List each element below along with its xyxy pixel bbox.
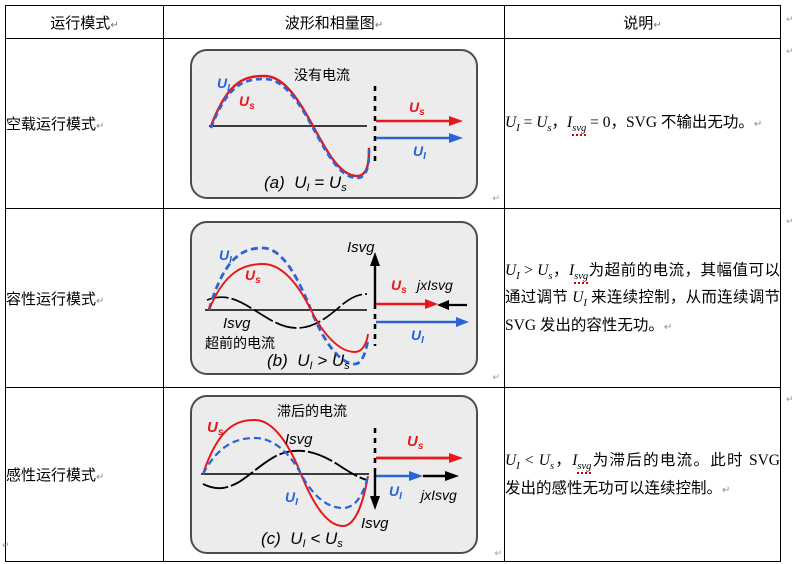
mode-label: 容性运行模式 — [6, 291, 96, 308]
figure-caption-a: (a) UI = Us — [264, 173, 347, 194]
waveform-note-leading-current: 超前的电流 — [205, 335, 275, 351]
pilcrow-mark-margin: ↵ — [786, 394, 794, 405]
header-cell-mode: 运行模式↵ — [6, 6, 164, 39]
waveform-cell-inductive: Us UI Isvg 滞后的电流 Us UI — [164, 388, 505, 562]
waveform-label-isvg: Isvg — [285, 431, 313, 448]
header-label-description: 说明 — [623, 15, 653, 32]
pilcrow-mark: ↵ — [96, 121, 104, 132]
desc-operator: > — [520, 262, 537, 279]
phasor-label-jxisvg: jxIsvg — [419, 487, 457, 503]
desc-term-ui: UI — [505, 114, 520, 131]
pilcrow-mark: ↵ — [494, 548, 502, 559]
desc-term-ui: UI — [505, 452, 520, 469]
mode-cell-no-load: 空载运行模式↵ — [6, 39, 164, 209]
pilcrow-mark: ↵ — [754, 119, 762, 130]
figure-caption-c: (c) UI < Us — [261, 529, 343, 550]
pilcrow-mark: ↵ — [492, 372, 500, 383]
pilcrow-mark: ↵ — [110, 20, 118, 31]
figure-a-waveform-phasor: UI Us 没有电流 Us UI (a) U — [189, 48, 479, 200]
figure-c-waveform-phasor: Us UI Isvg 滞后的电流 Us UI — [189, 392, 479, 557]
pilcrow-mark: ↵ — [722, 485, 730, 496]
desc-comma: ， — [552, 114, 568, 131]
waveform-note-no-current: 没有电流 — [294, 67, 350, 83]
waveform-cell-no-load: UI Us 没有电流 Us UI (a) U — [164, 39, 505, 209]
pilcrow-mark: ↵ — [664, 322, 672, 333]
waveform-cell-capacitive: UI Us Isvg 超前的电流 Isvg Us — [164, 209, 505, 388]
desc-sub-svg-spellcheck: svg — [577, 461, 591, 474]
description-cell-capacitive: UI > Us，Isvg为超前的电流，其幅值可以通过调节 UI 来连续控制，从而… — [505, 209, 781, 388]
table-row: 空载运行模式↵ UI Us 没有电流 — [6, 39, 781, 209]
desc-term-isvg: Isvg — [569, 262, 588, 279]
pilcrow-mark-margin: ↵ — [786, 46, 794, 57]
operation-modes-table: 运行模式↵ 波形和相量图↵ 说明↵ 空载运行模式↵ — [5, 5, 781, 562]
table-header-row: 运行模式↵ 波形和相量图↵ 说明↵ — [6, 6, 781, 39]
desc-term-ui-2: UI — [572, 289, 587, 306]
desc-operator: = — [520, 114, 537, 131]
phasor-label-jxisvg: jxIsvg — [415, 277, 453, 293]
waveform-label-isvg: Isvg — [223, 315, 251, 332]
figure-b-waveform-phasor: UI Us Isvg 超前的电流 Isvg Us — [189, 218, 479, 378]
pilcrow-mark-margin: ↵ — [2, 540, 10, 551]
pilcrow-mark: ↵ — [653, 20, 661, 31]
figure-caption-b: (b) UI > Us — [267, 351, 350, 372]
pilcrow-mark: ↵ — [96, 472, 104, 483]
description-cell-inductive: UI < Us，Isvg为滞后的电流。此时 SVG 发出的感性无功可以连续控制。… — [505, 388, 781, 562]
desc-term-isvg: Isvg — [572, 452, 591, 469]
pilcrow-mark: ↵ — [492, 193, 500, 204]
mode-label: 感性运行模式 — [6, 467, 96, 484]
header-label-waveform: 波形和相量图 — [285, 15, 375, 32]
desc-sub-svg-spellcheck: svg — [574, 271, 588, 284]
table-row: 感性运行模式↵ Us UI Isvg — [6, 388, 781, 562]
mode-label: 空载运行模式 — [6, 116, 96, 133]
phasor-label-isvg: Isvg — [361, 515, 389, 532]
mode-cell-inductive: 感性运行模式↵ — [6, 388, 164, 562]
desc-term-us: Us — [537, 262, 552, 279]
phasor-label-isvg: Isvg — [347, 239, 375, 256]
header-label-mode: 运行模式 — [50, 15, 110, 32]
pilcrow-mark: ↵ — [96, 296, 104, 307]
desc-sub-svg-spellcheck: svg — [572, 123, 586, 136]
pilcrow-mark-margin: ↵ — [786, 216, 794, 227]
document-page: 运行模式↵ 波形和相量图↵ 说明↵ 空载运行模式↵ — [0, 0, 800, 564]
desc-comma: ， — [554, 452, 572, 469]
desc-tail: = 0，SVG 不输出无功。 — [586, 114, 754, 131]
header-cell-waveform: 波形和相量图↵ — [164, 6, 505, 39]
desc-comma: ， — [553, 262, 569, 279]
desc-term-ui: UI — [505, 262, 520, 279]
pilcrow-mark: ↵ — [375, 20, 383, 31]
description-cell-no-load: UI = Us，Isvg = 0，SVG 不输出无功。↵ — [505, 39, 781, 209]
desc-operator: < — [520, 452, 539, 469]
waveform-note-lagging-current: 滞后的电流 — [277, 403, 347, 419]
pilcrow-mark-margin: ↵ — [786, 14, 794, 25]
desc-term-us: Us — [539, 452, 554, 469]
header-cell-description: 说明↵ — [505, 6, 781, 39]
table-row: 容性运行模式↵ UI Us Isvg — [6, 209, 781, 388]
mode-cell-capacitive: 容性运行模式↵ — [6, 209, 164, 388]
desc-term-isvg: Isvg — [567, 114, 586, 131]
desc-term-us: Us — [536, 114, 551, 131]
